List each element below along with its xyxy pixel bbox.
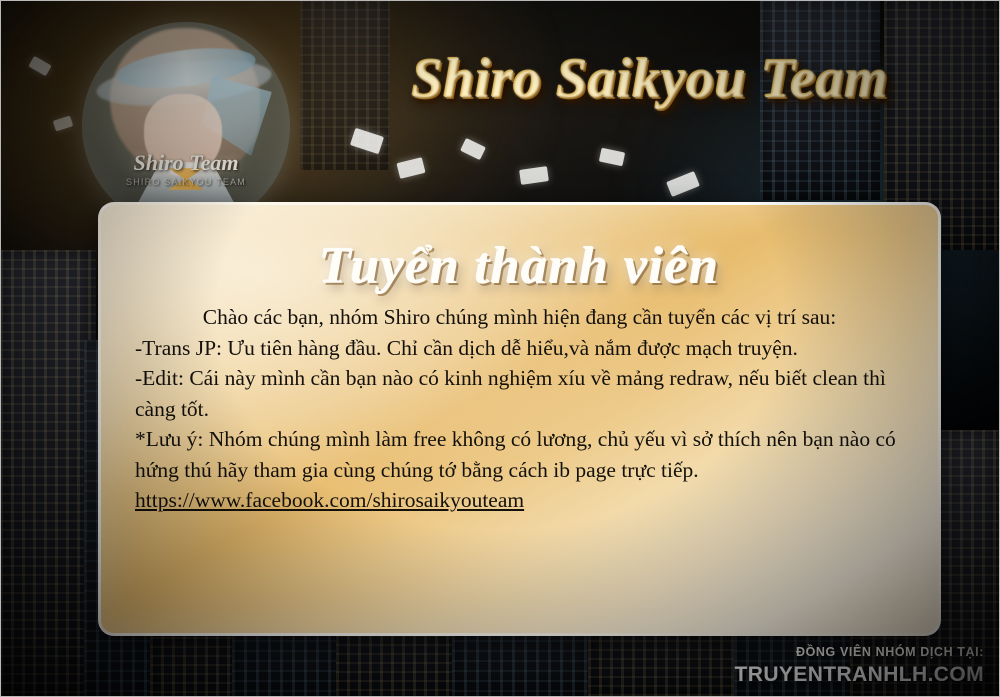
logo-subtext: SHIRO SAIKYOU TEAM: [82, 177, 290, 187]
facebook-link[interactable]: https://www.facebook.com/shirosaikyoutea…: [135, 485, 524, 516]
recruitment-panel-content: Tuyển thành viên Chào các bạn, nhóm Shir…: [101, 205, 938, 633]
recruitment-facebook-link-wrap: https://www.facebook.com/shirosaikyoutea…: [135, 485, 904, 516]
recruitment-title: Tuyển thành viên: [129, 237, 910, 296]
recruitment-line-note: *Lưu ý: Nhóm chúng mình làm free không c…: [135, 424, 904, 485]
manga-credit-page: Shiro Team SHIRO SAIKYOU TEAM Shiro Saik…: [0, 0, 1000, 697]
logo-text: Shiro Team: [82, 150, 290, 176]
footer-support-note: ĐỒNG VIÊN NHÓM DỊCH TẠI:: [796, 645, 984, 659]
recruitment-body: Chào các bạn, nhóm Shiro chúng mình hiện…: [129, 302, 910, 516]
page-title: Shiro Saikyou Team: [330, 47, 970, 111]
footer-site-brand: TRUYENTRANHLH.COM: [735, 663, 984, 687]
building-left-tall: [0, 250, 96, 697]
recruitment-line-trans: -Trans JP: Ưu tiên hàng đầu. Chỉ cần dịc…: [135, 333, 904, 364]
recruitment-panel: Tuyển thành viên Chào các bạn, nhóm Shir…: [98, 202, 941, 636]
recruitment-line-edit: -Edit: Cái này mình cần bạn nào có kinh …: [135, 363, 904, 424]
team-logo-emblem: Shiro Team SHIRO SAIKYOU TEAM: [82, 22, 290, 230]
recruitment-line-intro: Chào các bạn, nhóm Shiro chúng mình hiện…: [135, 302, 904, 333]
